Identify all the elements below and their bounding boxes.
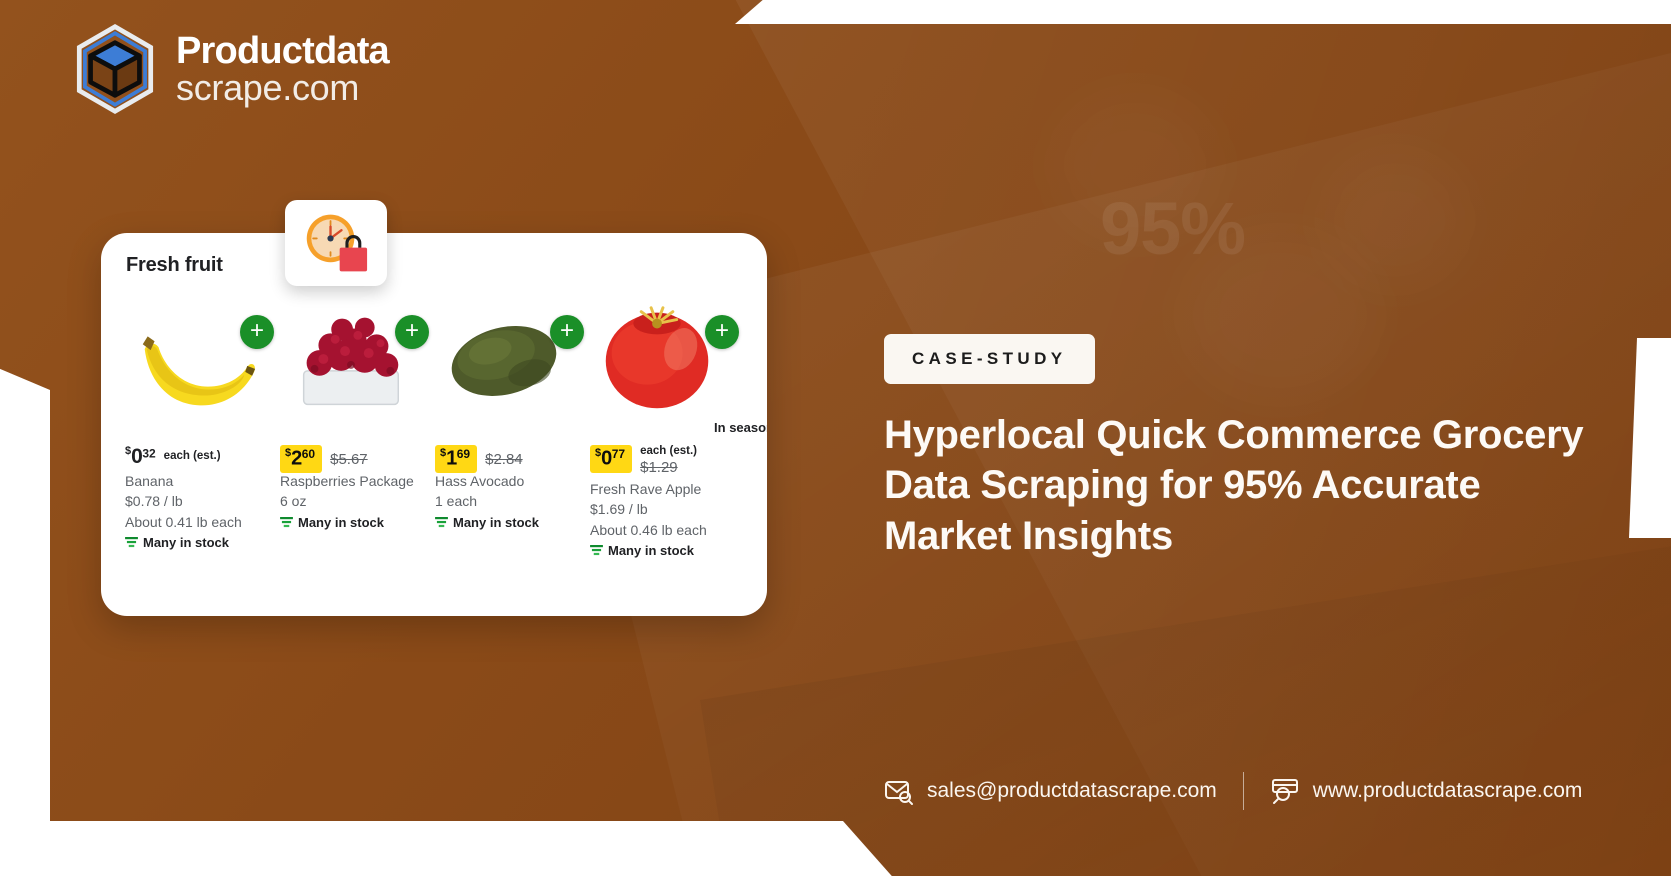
contact-website[interactable]: www.productdatascrape.com	[1270, 776, 1583, 806]
price-row: $260 $5.67	[280, 445, 411, 471]
stock-bars-icon	[590, 545, 603, 556]
price-major: 1	[446, 447, 457, 469]
avocado-image-wrap	[435, 289, 573, 429]
stock-label: Many in stock	[453, 515, 539, 530]
banana-icon	[125, 289, 263, 429]
price-value: $032	[125, 445, 156, 469]
product-name: Fresh Rave Apple	[590, 479, 721, 499]
apple-image-wrap: In season	[590, 289, 728, 429]
price-major: 2	[291, 447, 302, 469]
price-minor: 32	[142, 447, 155, 461]
product-sub1: $0.78 / lb	[125, 491, 256, 511]
contact-divider	[1243, 772, 1244, 810]
product-sub1: $1.69 / lb	[590, 499, 721, 519]
price-value-highlighted: $169	[435, 445, 477, 473]
price-row: $077 each (est.) $1.29	[590, 445, 721, 471]
red-apple-icon	[590, 289, 728, 429]
email-address: sales@productdatascrape.com	[927, 779, 1217, 803]
page-title: Hyperlocal Quick Commerce Grocery Data S…	[884, 410, 1604, 561]
price-original: $1.29	[640, 457, 697, 476]
envelope-search-icon	[884, 776, 914, 806]
raspberries-package-icon	[280, 289, 418, 429]
product-card-banana[interactable]: + $032 each (est.) Banana $0.78 / lb Abo…	[101, 289, 256, 616]
decorative-wedge-top	[735, 0, 1671, 24]
stock-label: Many in stock	[608, 543, 694, 558]
product-card-apple[interactable]: In season + $077 each (est.) $1.29 Fresh…	[566, 289, 721, 616]
price-note: each (est.)	[640, 445, 697, 457]
price-row: $169 $2.84	[435, 445, 566, 471]
watermark-95-percent: 95%	[1100, 186, 1245, 271]
contact-email[interactable]: sales@productdatascrape.com	[884, 776, 1217, 806]
brand-name-line1: Productdata	[176, 33, 389, 69]
in-season-badge: In season	[708, 418, 767, 437]
case-study-pill: CASE-STUDY	[884, 334, 1095, 384]
product-name: Hass Avocado	[435, 471, 566, 491]
product-sub2: About 0.41 lb each	[125, 512, 256, 532]
raspberries-image-wrap	[280, 289, 418, 429]
decorative-wedge-bottom	[0, 821, 898, 881]
price-major: 0	[601, 447, 612, 469]
product-sub1: 1 each	[435, 491, 566, 511]
decorative-bottom-strip	[0, 876, 1671, 881]
stock-label: Many in stock	[298, 515, 384, 530]
banana-image-wrap	[125, 289, 263, 429]
fresh-fruit-card: Fresh fruit + $032 each (es	[101, 233, 767, 616]
product-name: Raspberries Package	[280, 471, 411, 491]
stock-bars-icon	[435, 517, 448, 528]
stock-status: Many in stock	[590, 543, 721, 558]
hass-avocado-icon	[435, 289, 573, 429]
price-minor: 60	[302, 447, 315, 461]
stock-status: Many in stock	[435, 515, 566, 530]
add-to-cart-button[interactable]: +	[395, 315, 429, 349]
price-note: each (est.)	[164, 445, 221, 462]
stock-status: Many in stock	[280, 515, 411, 530]
add-to-cart-button[interactable]: +	[550, 315, 584, 349]
stock-label: Many in stock	[143, 535, 229, 550]
browser-search-icon	[1270, 776, 1300, 806]
website-url: www.productdatascrape.com	[1313, 779, 1583, 803]
clock-shopping-bag-icon	[299, 211, 373, 275]
price-value-highlighted: $077	[590, 445, 632, 473]
stock-bars-icon	[125, 537, 138, 548]
cube-hexagon-logo-icon	[68, 22, 162, 116]
price-minor: 77	[612, 447, 625, 461]
fresh-fruit-title: Fresh fruit	[126, 254, 223, 277]
price-major: 0	[131, 445, 142, 468]
price-detail-column: each (est.) $1.29	[640, 445, 697, 476]
price-row: $032 each (est.)	[125, 445, 256, 471]
decorative-wedge-left	[0, 368, 50, 881]
product-sub1: 6 oz	[280, 491, 411, 511]
product-card-raspberries[interactable]: + $260 $5.67 Raspberries Package 6 oz Ma…	[256, 289, 411, 616]
add-to-cart-button[interactable]: +	[705, 315, 739, 349]
add-to-cart-button[interactable]: +	[240, 315, 274, 349]
contact-bar: sales@productdatascrape.com www.productd…	[884, 772, 1582, 810]
price-original: $2.84	[485, 445, 523, 468]
product-name: Banana	[125, 471, 256, 491]
clock-shopping-bag-badge	[285, 200, 387, 286]
product-sub2: About 0.46 lb each	[590, 520, 721, 540]
price-original: $5.67	[330, 445, 368, 468]
price-value-highlighted: $260	[280, 445, 322, 473]
product-card-avocado[interactable]: + $169 $2.84 Hass Avocado 1 each Many in…	[411, 289, 566, 616]
product-list: + $032 each (est.) Banana $0.78 / lb Abo…	[101, 289, 767, 616]
brand-name-line2: scrape.com	[176, 71, 389, 105]
brand-logo[interactable]: Productdata scrape.com	[68, 22, 389, 116]
price-minor: 69	[457, 447, 470, 461]
stock-status: Many in stock	[125, 535, 256, 550]
stock-bars-icon	[280, 517, 293, 528]
poster-stage: 95% Productdata scrape.com Fresh fru	[0, 0, 1671, 881]
